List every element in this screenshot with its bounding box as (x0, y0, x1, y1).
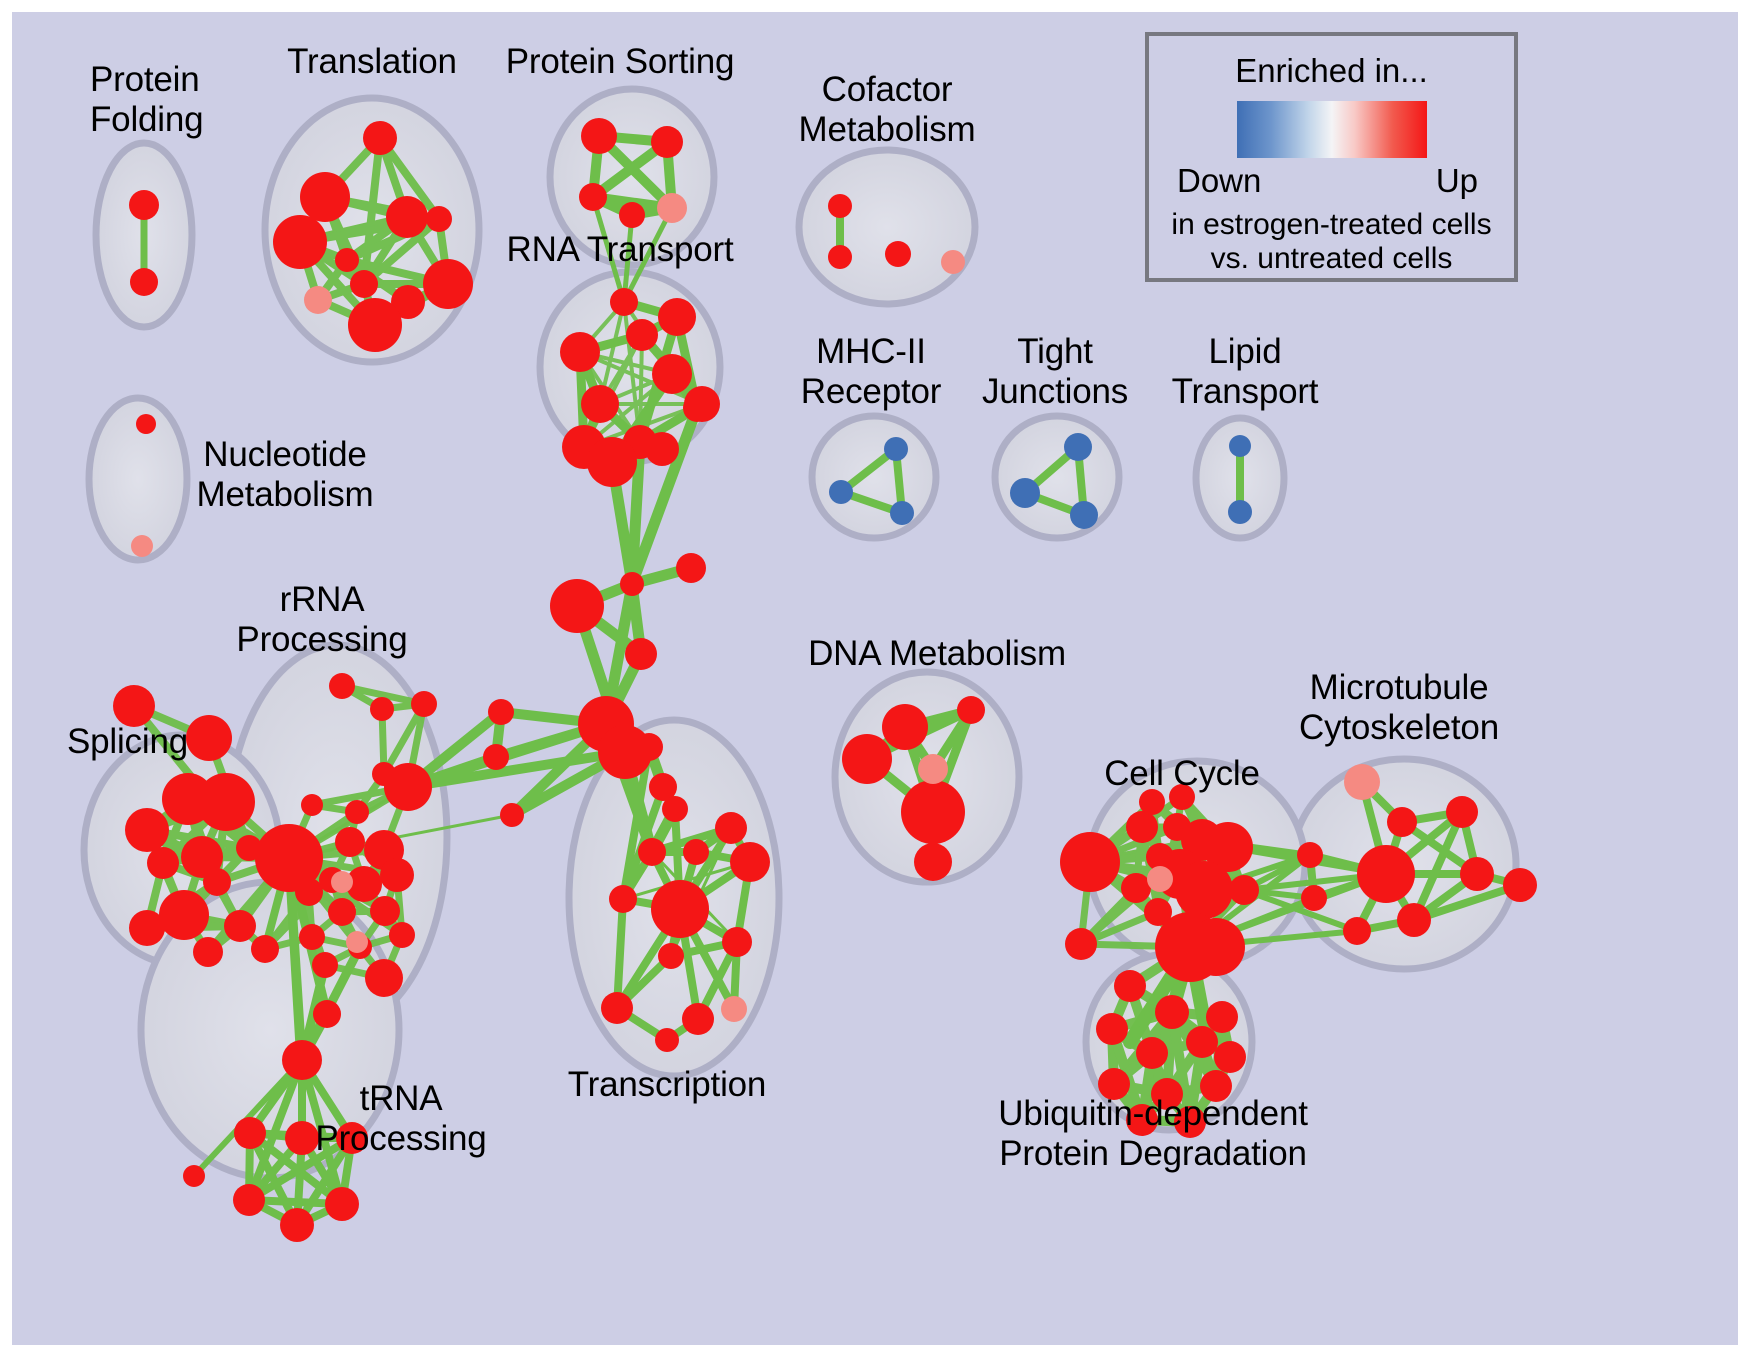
label-protein-folding: Protein Folding (90, 60, 203, 140)
label-mhc-ii-receptor: MHC-II Receptor (801, 332, 941, 412)
label-cofactor-metabolism: Cofactor Metabolism (799, 70, 976, 150)
label-tight-junctions: Tight Junctions (982, 332, 1128, 412)
legend-low-label: Down (1177, 162, 1261, 200)
legend-high-label: Up (1436, 162, 1478, 200)
blob-mhc-ii-receptor (812, 416, 936, 538)
label-rrna-processing: rRNA Processing (236, 580, 407, 660)
legend-box: Enriched in... Down Up in estrogen-treat… (1145, 32, 1518, 282)
legend-color-gradient (1237, 101, 1427, 158)
label-cell-cycle: Cell Cycle (1104, 754, 1260, 794)
label-protein-sorting: Protein Sorting (506, 42, 735, 82)
label-ubiquitin-degradation: Ubiquitin-dependent Protein Degradation (998, 1094, 1308, 1174)
label-rna-transport: RNA Transport (507, 230, 734, 270)
blob-tight-junctions (995, 416, 1119, 538)
label-trna-processing: tRNA Processing (315, 1079, 486, 1159)
label-lipid-transport: Lipid Transport (1172, 332, 1319, 412)
network-panel: Protein Folding Translation Protein Sort… (12, 12, 1738, 1345)
legend-title: Enriched in... (1149, 52, 1514, 90)
label-dna-metabolism: DNA Metabolism (808, 634, 1066, 674)
label-translation: Translation (287, 42, 457, 82)
blob-cofactor-metabolism (799, 150, 975, 304)
label-microtubule-cytoskeleton: Microtubule Cytoskeleton (1299, 668, 1499, 748)
label-transcription: Transcription (568, 1065, 766, 1105)
label-nucleotide-metabolism: Nucleotide Metabolism (197, 435, 374, 515)
legend-subtitle-line1: in estrogen-treated cells (1149, 208, 1514, 242)
figure-canvas: Protein Folding Translation Protein Sort… (0, 0, 1750, 1360)
label-splicing: Splicing (67, 722, 188, 762)
legend-subtitle-line2: vs. untreated cells (1149, 242, 1514, 276)
